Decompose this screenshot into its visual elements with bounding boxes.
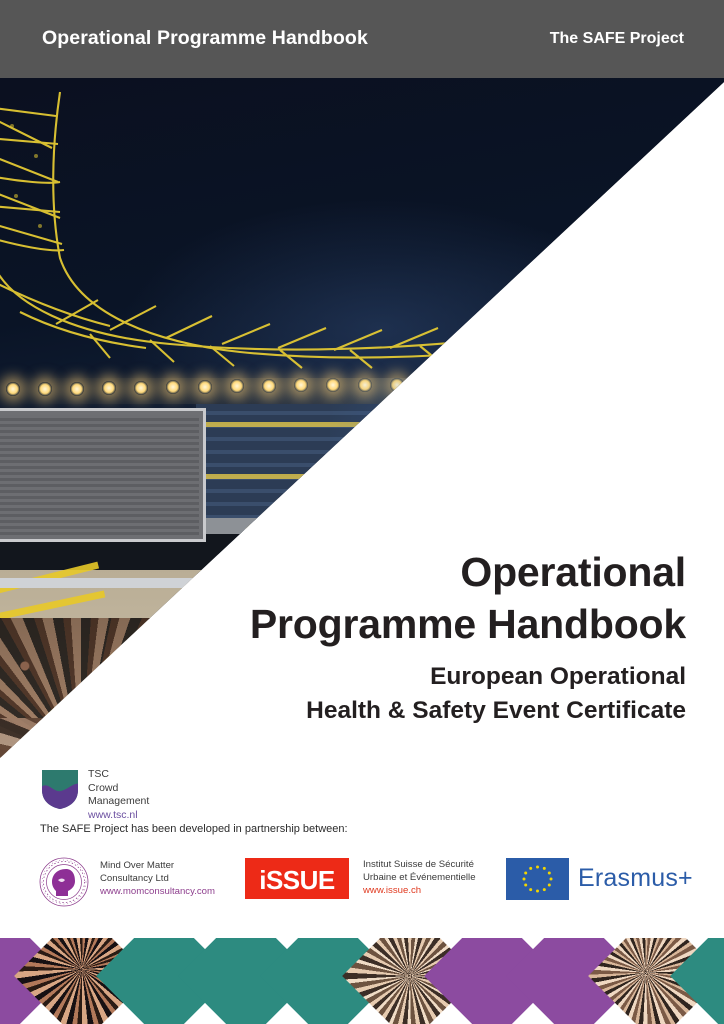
- partnership-intro-text: The SAFE Project has been developed in p…: [40, 823, 348, 835]
- tsc-logo-text: TSC Crowd Management www.tsc.nl: [88, 768, 149, 822]
- title-line-2: Programme Handbook: [250, 598, 686, 650]
- page-header: Operational Programme Handbook The SAFE …: [0, 0, 724, 78]
- cover-title-block: Operational Programme Handbook European …: [250, 546, 686, 728]
- tsc-descriptor: Crowd Management: [88, 782, 149, 809]
- mom-line-1: Mind Over Matter: [100, 859, 215, 872]
- header-title: Operational Programme Handbook: [42, 27, 368, 50]
- erasmus-plus-label: Erasmus+: [578, 864, 693, 893]
- tsc-url[interactable]: www.tsc.nl: [88, 809, 149, 823]
- issue-line-2: Urbaine et Événementielle: [363, 871, 476, 884]
- title-line-1: Operational: [250, 546, 686, 598]
- document-cover-page: Operational Programme Handbook The SAFE …: [0, 0, 724, 1024]
- header-project-name: The SAFE Project: [550, 30, 684, 48]
- issue-url[interactable]: www.issue.ch: [363, 884, 476, 897]
- tsc-name: TSC: [88, 768, 149, 782]
- issue-logo: iSSUE: [245, 858, 349, 899]
- subtitle-line-2: Health & Safety Event Certificate: [250, 694, 686, 728]
- truss-arch-icon: [0, 86, 724, 416]
- tsc-shield-icon: [40, 766, 80, 810]
- mom-partner-text: Mind Over Matter Consultancy Ltd www.mom…: [100, 859, 215, 898]
- subtitle-line-1: European Operational: [250, 660, 686, 694]
- partner-logo-row: Mind Over Matter Consultancy Ltd www.mom…: [38, 852, 698, 914]
- issue-partner-text: Institut Suisse de Sécurité Urbaine et É…: [363, 858, 476, 897]
- mom-line-2: Consultancy Ltd: [100, 872, 215, 885]
- footer-chevron-band: [0, 938, 724, 1024]
- led-screen: [0, 408, 206, 542]
- issue-line-1: Institut Suisse de Sécurité: [363, 858, 476, 871]
- stage-back-wall: [196, 404, 526, 554]
- eu-flag-icon: [506, 858, 569, 900]
- mom-circular-head-logo-icon: [38, 856, 90, 908]
- issue-logo-text: iSSUE: [245, 865, 349, 896]
- erasmus-plus-logo: Erasmus+: [506, 858, 724, 902]
- mom-url[interactable]: www.momconsultancy.com: [100, 885, 215, 898]
